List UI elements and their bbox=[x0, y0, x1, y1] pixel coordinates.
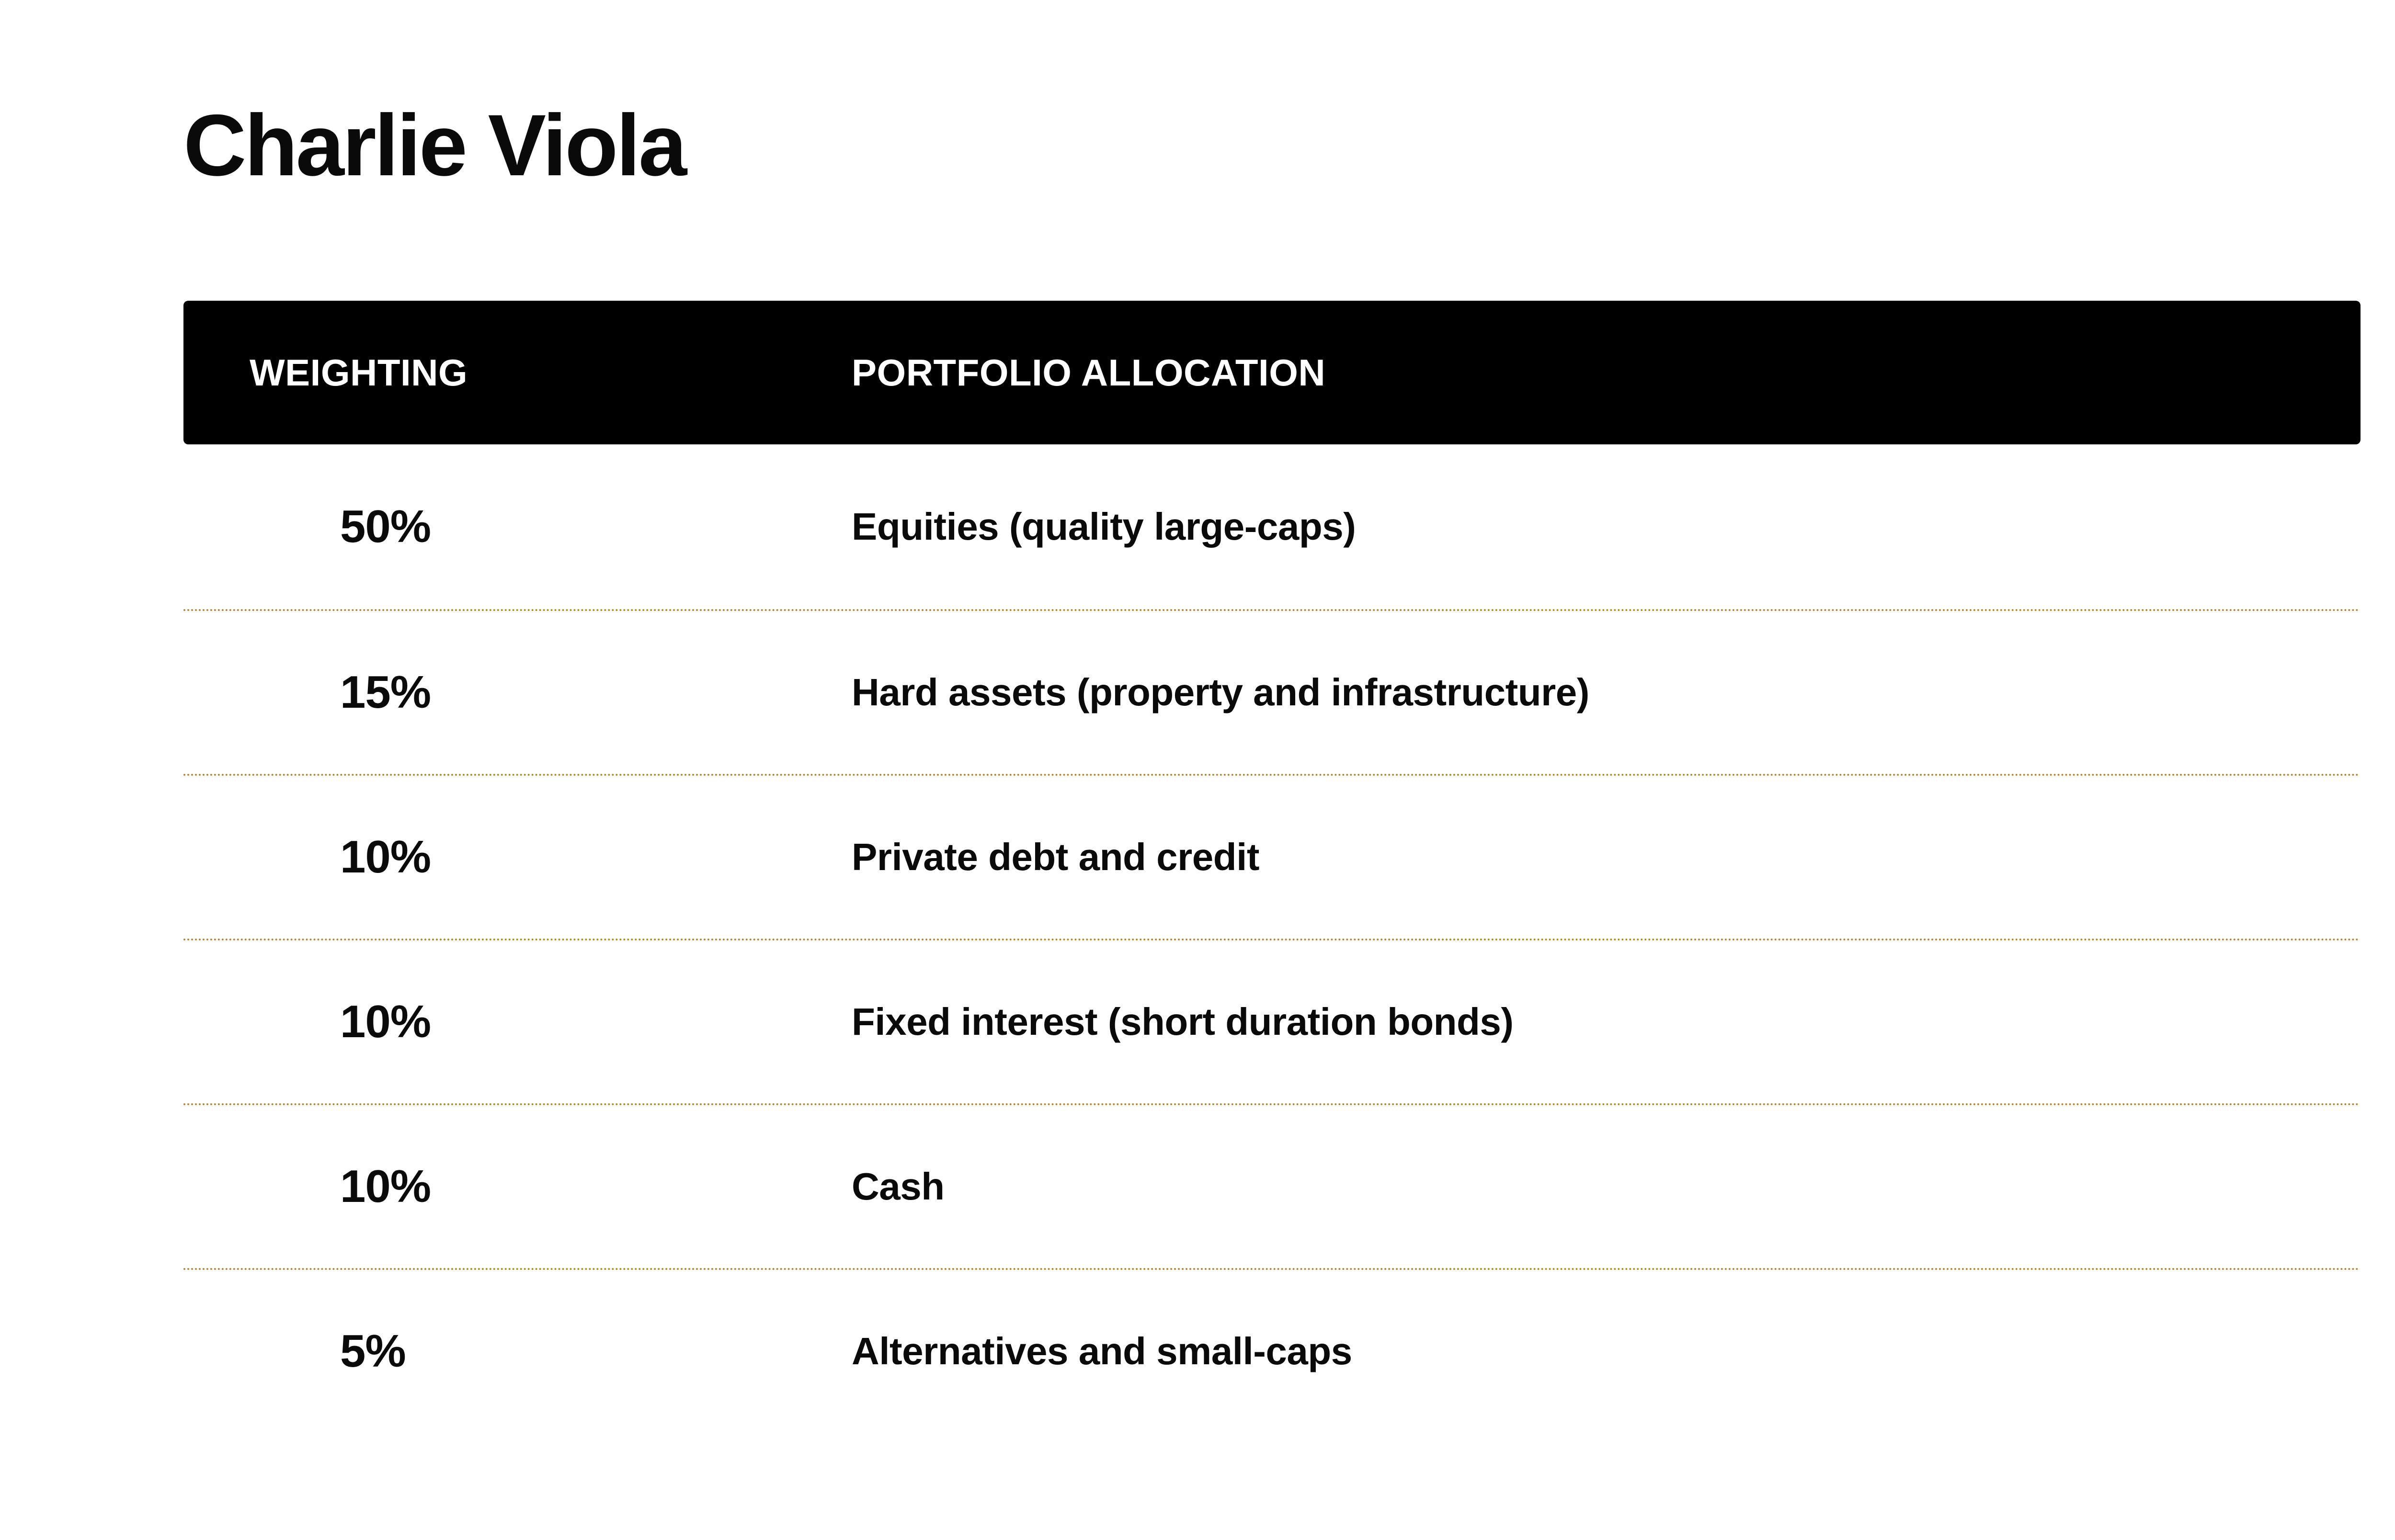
table-row: 15% Hard assets (property and infrastruc… bbox=[183, 609, 2361, 774]
cell-weighting: 10% bbox=[183, 1164, 852, 1210]
allocation-table-page: Charlie Viola WEIGHTING PORTFOLIO ALLOCA… bbox=[0, 0, 2395, 1540]
cell-allocation: Hard assets (property and infrastructure… bbox=[852, 673, 2361, 712]
cell-weighting: 15% bbox=[183, 669, 852, 715]
table-header-row: WEIGHTING PORTFOLIO ALLOCATION bbox=[183, 301, 2361, 444]
cell-weighting: 5% bbox=[183, 1328, 852, 1374]
table-body: 50% Equities (quality large-caps) 15% Ha… bbox=[183, 444, 2361, 1433]
column-header-weighting: WEIGHTING bbox=[183, 354, 852, 391]
table-row: 50% Equities (quality large-caps) bbox=[183, 444, 2361, 609]
column-header-portfolio-allocation: PORTFOLIO ALLOCATION bbox=[852, 354, 2361, 391]
portfolio-allocation-table: WEIGHTING PORTFOLIO ALLOCATION 50% Equit… bbox=[183, 301, 2361, 1433]
table-row: 10% Cash bbox=[183, 1103, 2361, 1268]
cell-allocation: Fixed interest (short duration bonds) bbox=[852, 1003, 2361, 1041]
cell-allocation: Equities (quality large-caps) bbox=[852, 508, 2361, 546]
cell-weighting: 50% bbox=[183, 504, 852, 550]
cell-weighting: 10% bbox=[183, 999, 852, 1045]
cell-allocation: Private debt and credit bbox=[852, 838, 2361, 876]
table-row: 10% Fixed interest (short duration bonds… bbox=[183, 939, 2361, 1103]
page-title: Charlie Viola bbox=[183, 102, 685, 189]
table-row: 10% Private debt and credit bbox=[183, 774, 2361, 939]
cell-weighting: 10% bbox=[183, 834, 852, 880]
cell-allocation: Alternatives and small-caps bbox=[852, 1332, 2361, 1370]
table-row: 5% Alternatives and small-caps bbox=[183, 1268, 2361, 1433]
cell-allocation: Cash bbox=[852, 1167, 2361, 1206]
